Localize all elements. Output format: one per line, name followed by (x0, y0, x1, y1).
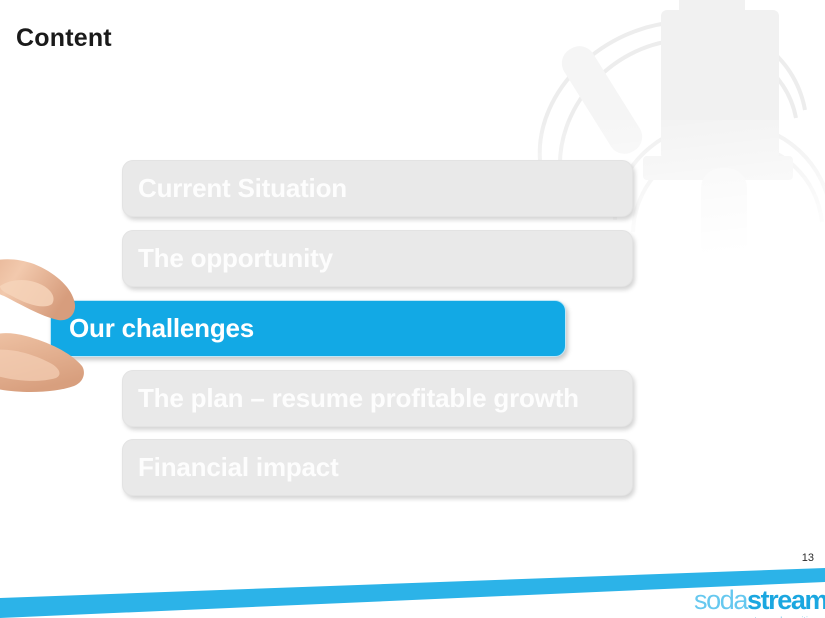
page-number: 13 (802, 552, 814, 564)
agenda-item-label: Our challenges (51, 313, 254, 344)
agenda-list: Current Situation The opportunity Our ch… (0, 160, 825, 505)
agenda-item-our-challenges[interactable]: Our challenges (50, 300, 566, 357)
agenda-item-label: The opportunity (123, 243, 333, 274)
agenda-item-label: Financial impact (123, 452, 339, 483)
page-title: Content (16, 24, 112, 53)
agenda-item-the-opportunity[interactable]: The opportunity (122, 230, 633, 287)
logo-word-stream: stream (747, 585, 825, 615)
logo-word-soda: soda (694, 585, 747, 615)
agenda-item-financial-impact[interactable]: Financial impact (122, 439, 633, 496)
agenda-item-label: The plan – resume profitable growth (123, 383, 579, 414)
slide-canvas: Content Current Situation The opportunit… (0, 0, 825, 618)
sodastream-logo: sodastream® water made exciting (694, 583, 819, 616)
agenda-item-the-plan[interactable]: The plan – resume profitable growth (122, 370, 633, 427)
agenda-item-current-situation[interactable]: Current Situation (122, 160, 633, 217)
agenda-item-label: Current Situation (123, 173, 347, 204)
